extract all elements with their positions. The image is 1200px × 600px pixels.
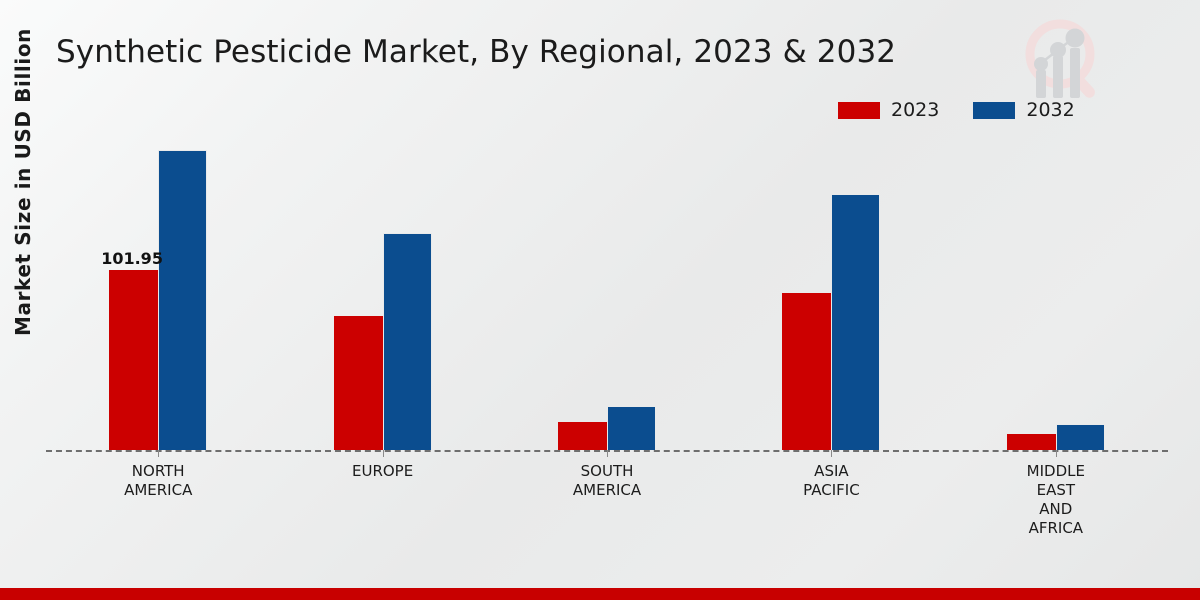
magnifier-bar-chart-logo-icon xyxy=(1008,8,1112,112)
bar-pair xyxy=(109,150,207,450)
bar-group: ASIA PACIFIC xyxy=(719,150,943,450)
bar-pair xyxy=(334,150,432,450)
x-axis-tick xyxy=(383,450,384,457)
x-axis-category-label: ASIA PACIFIC xyxy=(803,462,860,500)
bar-2032[interactable] xyxy=(831,194,880,450)
bar-pair xyxy=(1007,150,1105,450)
bar-2032[interactable] xyxy=(383,233,432,450)
chart-legend: 2023 2032 xyxy=(838,101,1075,120)
bar-2023[interactable] xyxy=(334,316,383,450)
chart-infographic: Synthetic Pesticide Market, By Regional,… xyxy=(0,0,1200,600)
bar-2023[interactable] xyxy=(558,422,607,450)
bar-2032[interactable] xyxy=(158,150,207,450)
bar-groups: NORTH AMERICA101.95EUROPESOUTH AMERICAAS… xyxy=(46,150,1168,450)
x-axis-category-label: EUROPE xyxy=(352,462,413,481)
x-axis-tick xyxy=(831,450,832,457)
x-axis-tick xyxy=(1056,450,1057,457)
bar-group: MIDDLE EAST AND AFRICA xyxy=(944,150,1168,450)
bar-pair xyxy=(782,150,880,450)
legend-swatch-icon xyxy=(973,102,1015,119)
bar-2023[interactable] xyxy=(109,270,158,450)
legend-label: 2023 xyxy=(891,101,939,120)
bar-2023[interactable] xyxy=(782,293,831,450)
bar-group: SOUTH AMERICA xyxy=(495,150,719,450)
legend-label: 2032 xyxy=(1026,101,1074,120)
bar-group: NORTH AMERICA101.95 xyxy=(46,150,270,450)
x-axis-category-label: SOUTH AMERICA xyxy=(573,462,641,500)
x-axis-category-label: NORTH AMERICA xyxy=(124,462,192,500)
bar-value-label: 101.95 xyxy=(101,249,163,268)
legend-item-2023[interactable]: 2023 xyxy=(838,101,939,120)
y-axis-title: Market Size in USD Billion xyxy=(11,17,35,347)
x-axis-category-label: MIDDLE EAST AND AFRICA xyxy=(1027,462,1085,538)
x-axis-tick xyxy=(158,450,159,457)
bar-2023[interactable] xyxy=(1007,434,1056,450)
legend-swatch-icon xyxy=(838,102,880,119)
plot-area: NORTH AMERICA101.95EUROPESOUTH AMERICAAS… xyxy=(46,150,1168,450)
bar-2032[interactable] xyxy=(1056,424,1105,450)
x-axis-tick xyxy=(607,450,608,457)
bottom-accent-strip xyxy=(0,588,1200,600)
bar-group: EUROPE xyxy=(270,150,494,450)
legend-item-2032[interactable]: 2032 xyxy=(973,101,1074,120)
chart-title: Synthetic Pesticide Market, By Regional,… xyxy=(56,34,896,70)
bar-pair xyxy=(558,150,656,450)
bar-2032[interactable] xyxy=(607,406,656,450)
